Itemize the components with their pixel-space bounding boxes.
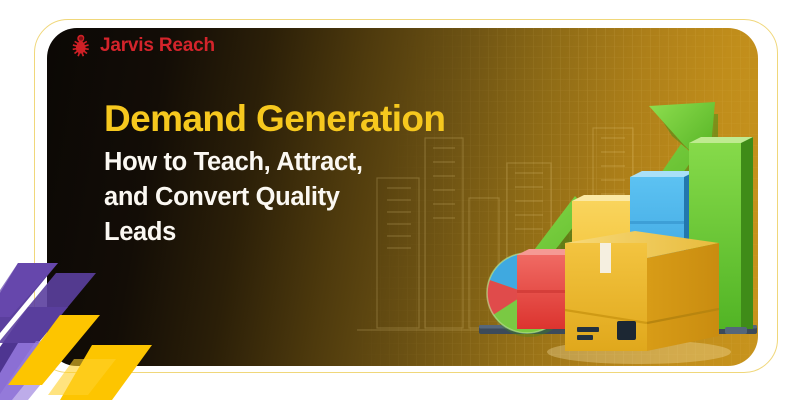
- subtitle-line-2: and Convert Quality: [104, 180, 474, 215]
- page-title: Demand Generation: [104, 100, 474, 138]
- brand-name: Jarvis Reach: [100, 35, 215, 57]
- jarvis-emblem-icon: [68, 33, 94, 59]
- platform-stub: [725, 327, 747, 334]
- subtitle-line-3: Leads: [104, 215, 474, 250]
- headline-block: Demand Generation How to Teach, Attract,…: [104, 100, 474, 250]
- page-subtitle: How to Teach, Attract, and Convert Quali…: [104, 145, 474, 251]
- corner-arrow-decor: [0, 255, 180, 400]
- subtitle-line-1: How to Teach, Attract,: [104, 145, 474, 180]
- cardboard-box-icon: [547, 231, 731, 364]
- growth-analytics-illustration: [467, 78, 758, 366]
- brand-logo[interactable]: Jarvis Reach: [68, 33, 215, 59]
- banner-stage: Jarvis Reach Demand Generation How to Te…: [0, 0, 800, 400]
